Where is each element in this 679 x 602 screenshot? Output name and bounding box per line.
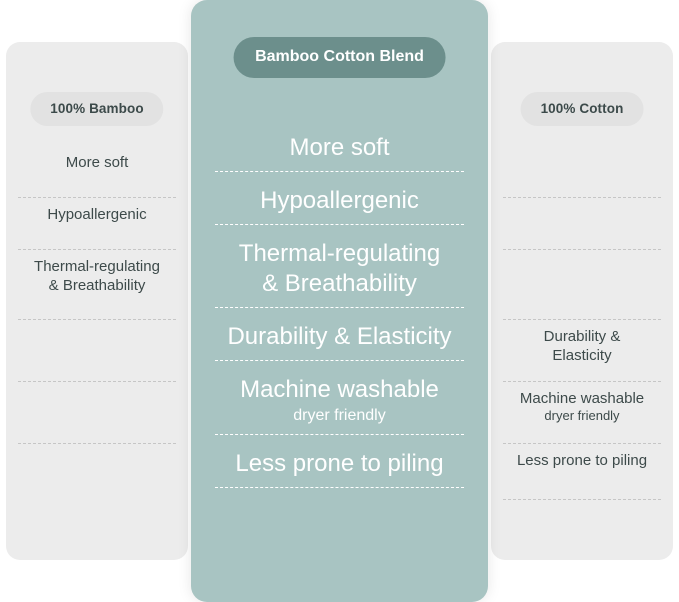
feature-text: Thermal-regulating & Breathability bbox=[18, 250, 176, 295]
list-item: More soft bbox=[215, 133, 464, 172]
list-item bbox=[503, 250, 661, 320]
feature-subtext bbox=[18, 224, 176, 225]
panel-bamboo: 100% Bamboo More soft Hypoallergenic The… bbox=[6, 42, 188, 560]
feature-text: Machine washable bbox=[503, 382, 661, 408]
feature-subtext: dryer friendly bbox=[215, 405, 464, 426]
feature-subtext bbox=[18, 295, 176, 296]
list-item bbox=[503, 198, 661, 250]
comparison-diagram: 100% Bamboo More soft Hypoallergenic The… bbox=[0, 0, 679, 602]
list-item: Hypoallergenic bbox=[215, 186, 464, 225]
panel-cotton-title: 100% Cotton bbox=[521, 92, 644, 126]
panel-bamboo-feature-list: More soft Hypoallergenic Thermal-regulat… bbox=[18, 146, 176, 506]
panel-blend-title: Bamboo Cotton Blend bbox=[233, 37, 446, 78]
feature-text bbox=[18, 444, 176, 451]
feature-subtext: dryer friendly bbox=[503, 408, 661, 425]
list-item: Machine washable dryer friendly bbox=[215, 375, 464, 435]
feature-text: Durability & Elasticity bbox=[503, 320, 661, 365]
list-item: Less prone to piling bbox=[503, 444, 661, 500]
list-item bbox=[18, 444, 176, 506]
list-item: More soft bbox=[18, 146, 176, 198]
list-item: Durability & Elasticity bbox=[215, 322, 464, 361]
list-item: Hypoallergenic bbox=[18, 198, 176, 250]
feature-text bbox=[18, 382, 176, 389]
feature-text: More soft bbox=[18, 146, 176, 172]
feature-text bbox=[503, 250, 661, 257]
feature-text: Machine washable bbox=[215, 375, 464, 405]
list-item bbox=[18, 382, 176, 444]
panel-cotton-feature-list: Durability & Elasticity Machine washable… bbox=[503, 146, 661, 500]
list-item: Machine washable dryer friendly bbox=[503, 382, 661, 444]
feature-subtext bbox=[18, 172, 176, 173]
feature-text: More soft bbox=[215, 133, 464, 163]
list-item: Durability & Elasticity bbox=[503, 320, 661, 382]
feature-text: Thermal-regulating & Breathability bbox=[215, 239, 464, 299]
list-item: Thermal-regulating & Breathability bbox=[18, 250, 176, 320]
panel-blend: Bamboo Cotton Blend More soft Hypoallerg… bbox=[191, 0, 488, 602]
feature-text bbox=[18, 320, 176, 327]
panel-bamboo-title: 100% Bamboo bbox=[30, 92, 163, 126]
feature-text bbox=[503, 146, 661, 153]
feature-text bbox=[503, 198, 661, 205]
feature-text: Less prone to piling bbox=[503, 444, 661, 470]
panel-blend-feature-list: More soft Hypoallergenic Thermal-regulat… bbox=[215, 133, 464, 502]
feature-text: Less prone to piling bbox=[215, 449, 464, 479]
list-item: Less prone to piling bbox=[215, 449, 464, 488]
feature-text: Hypoallergenic bbox=[18, 198, 176, 224]
feature-text: Hypoallergenic bbox=[215, 186, 464, 216]
list-item: Thermal-regulating & Breathability bbox=[215, 239, 464, 308]
feature-text: Durability & Elasticity bbox=[215, 322, 464, 352]
list-item bbox=[18, 320, 176, 382]
panel-cotton: 100% Cotton Durability & Elasticity Mach… bbox=[491, 42, 673, 560]
list-item bbox=[503, 146, 661, 198]
